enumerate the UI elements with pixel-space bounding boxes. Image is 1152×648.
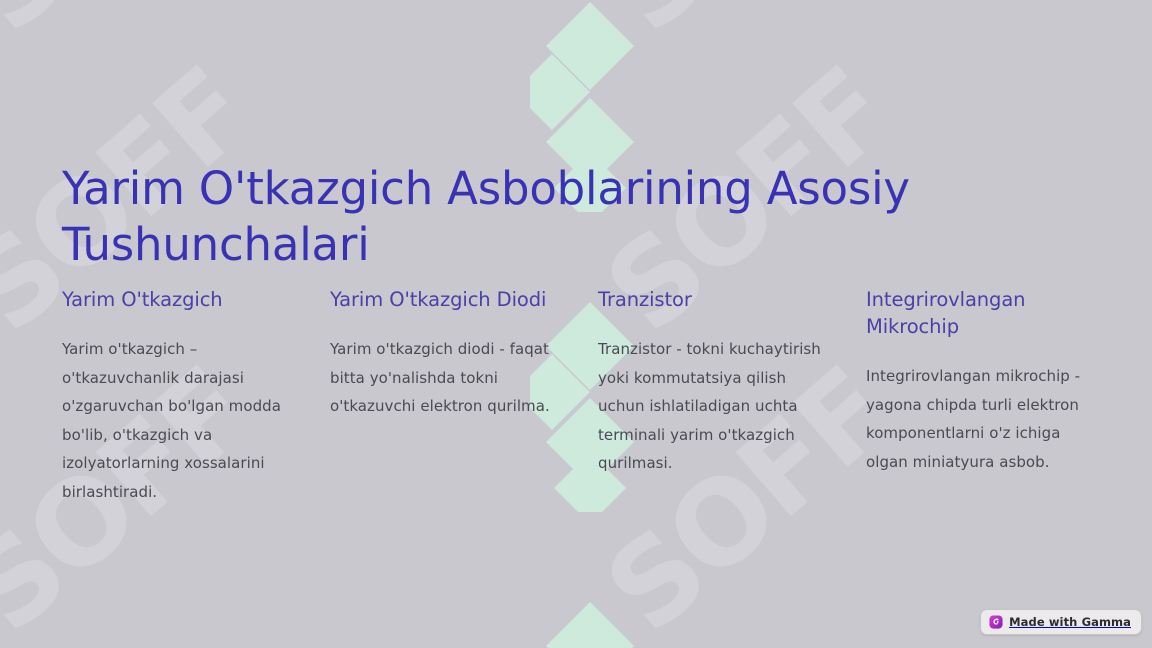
concept-column-1: Yarim O'tkazgich Yarim o'tkazgich – o'tk… (62, 286, 294, 507)
concept-heading-2: Yarim O'tkazgich Diodi (330, 286, 562, 313)
slide-content: Yarim O'tkazgich Asboblarining Asosiy Tu… (0, 0, 1152, 648)
concept-body-1: Yarim o'tkazgich – o'tkazuvchanlik daraj… (62, 335, 294, 507)
made-with-gamma-badge[interactable]: Made with Gamma (980, 609, 1142, 635)
page-title: Yarim O'tkazgich Asboblarining Asosiy Tu… (62, 161, 962, 273)
concept-columns: Yarim O'tkazgich Yarim o'tkazgich – o'tk… (62, 286, 1102, 507)
concept-body-2: Yarim o'tkazgich diodi - faqat bitta yo'… (330, 335, 562, 421)
concept-column-2: Yarim O'tkazgich Diodi Yarim o'tkazgich … (330, 286, 562, 507)
slide-canvas: SOFFSOFFSOFFSOFFSOFFSOFFSOFFSOFFSOFF Yar… (0, 0, 1152, 648)
concept-heading-3: Tranzistor (598, 286, 830, 313)
concept-column-3: Tranzistor Tranzistor - tokni kuchaytiri… (598, 286, 830, 507)
concept-body-4: Integrirovlangan mikrochip - yagona chip… (866, 362, 1098, 476)
concept-heading-4: Integrirovlangan Mikrochip (866, 286, 1098, 340)
concept-heading-1: Yarim O'tkazgich (62, 286, 294, 313)
concept-column-4: Integrirovlangan Mikrochip Integrirovlan… (866, 286, 1098, 507)
concept-body-3: Tranzistor - tokni kuchaytirish yoki kom… (598, 335, 830, 478)
gamma-swirl-icon (989, 615, 1003, 629)
made-with-gamma-label: Made with Gamma (1009, 615, 1131, 629)
